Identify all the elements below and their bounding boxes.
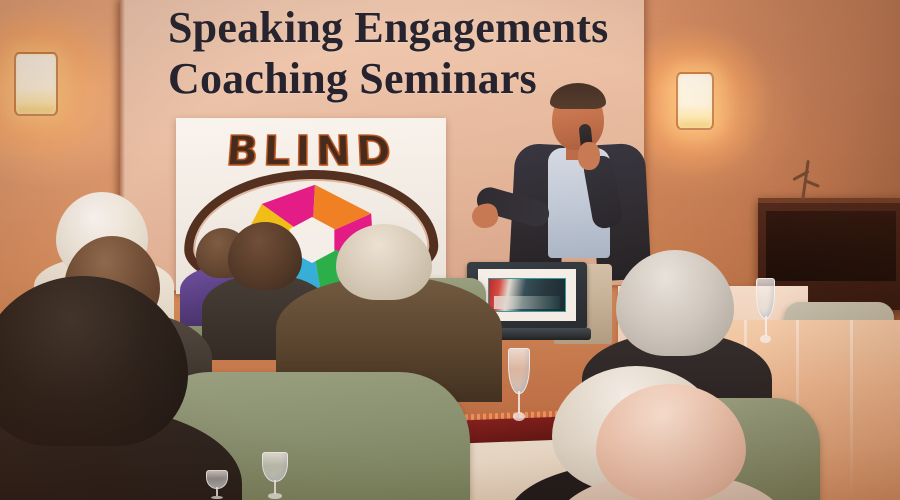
glass-stem [518,391,520,413]
glass-foot [513,412,525,421]
wine-glass [756,278,775,344]
glass-stem [765,316,767,336]
glass-foot [211,496,223,500]
glass-stem [274,480,276,494]
sconce-shade-right [676,72,714,130]
glass-foot [760,335,771,343]
wine-glass [508,348,530,422]
blind-logo-wordmark: BLIND [176,127,446,175]
dried-twig-decor [786,160,832,208]
audience-head [228,222,302,290]
wall-sconce-left [14,52,58,116]
wine-glass [206,470,228,500]
speaker-right-hand [578,142,600,170]
wall-sconce-right [676,72,714,130]
glass-foot [268,493,283,499]
glass-bowl [206,470,228,489]
speaker-hair [550,83,606,109]
presentation-photo: Speaking Engagements Coaching Seminars B… [0,0,900,500]
slide-title-line-1: Speaking Engagements [168,3,608,52]
glass-bowl [508,348,530,394]
audience-head [336,224,432,300]
glass-bowl [756,278,775,319]
glass-bowl [262,452,288,482]
sconce-shade-left [14,52,58,116]
laptop-screen-image [488,278,566,312]
tablecloth-fold [850,320,853,500]
wine-glass [262,452,288,500]
